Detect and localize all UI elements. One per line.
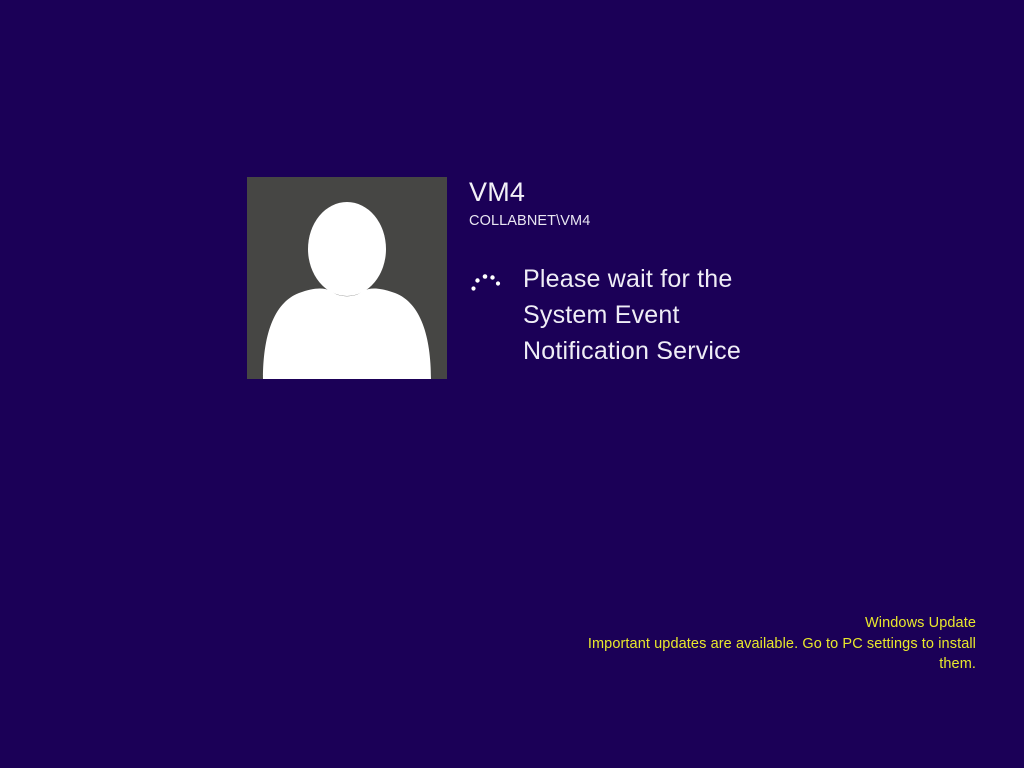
status-message: Please wait for the System Event Notific… bbox=[523, 261, 763, 369]
user-tile[interactable]: VM4 COLLABNET\VM4 Please wait for the Sy… bbox=[247, 177, 763, 379]
default-user-avatar-icon bbox=[247, 177, 447, 379]
avatar bbox=[247, 177, 447, 379]
loading-spinner bbox=[469, 267, 505, 303]
user-domain-account: COLLABNET\VM4 bbox=[469, 212, 763, 230]
windows-update-title: Windows Update bbox=[556, 613, 976, 633]
logon-screen: VM4 COLLABNET\VM4 Please wait for the Sy… bbox=[0, 0, 1024, 768]
windows-update-body: Important updates are available. Go to P… bbox=[556, 634, 976, 674]
user-display-name: VM4 bbox=[469, 177, 763, 207]
status-row: Please wait for the System Event Notific… bbox=[469, 261, 763, 369]
user-info: VM4 COLLABNET\VM4 Please wait for the Sy… bbox=[469, 177, 763, 369]
loading-dots-spinner-icon bbox=[469, 267, 505, 303]
windows-update-notice: Windows Update Important updates are ava… bbox=[556, 613, 976, 674]
